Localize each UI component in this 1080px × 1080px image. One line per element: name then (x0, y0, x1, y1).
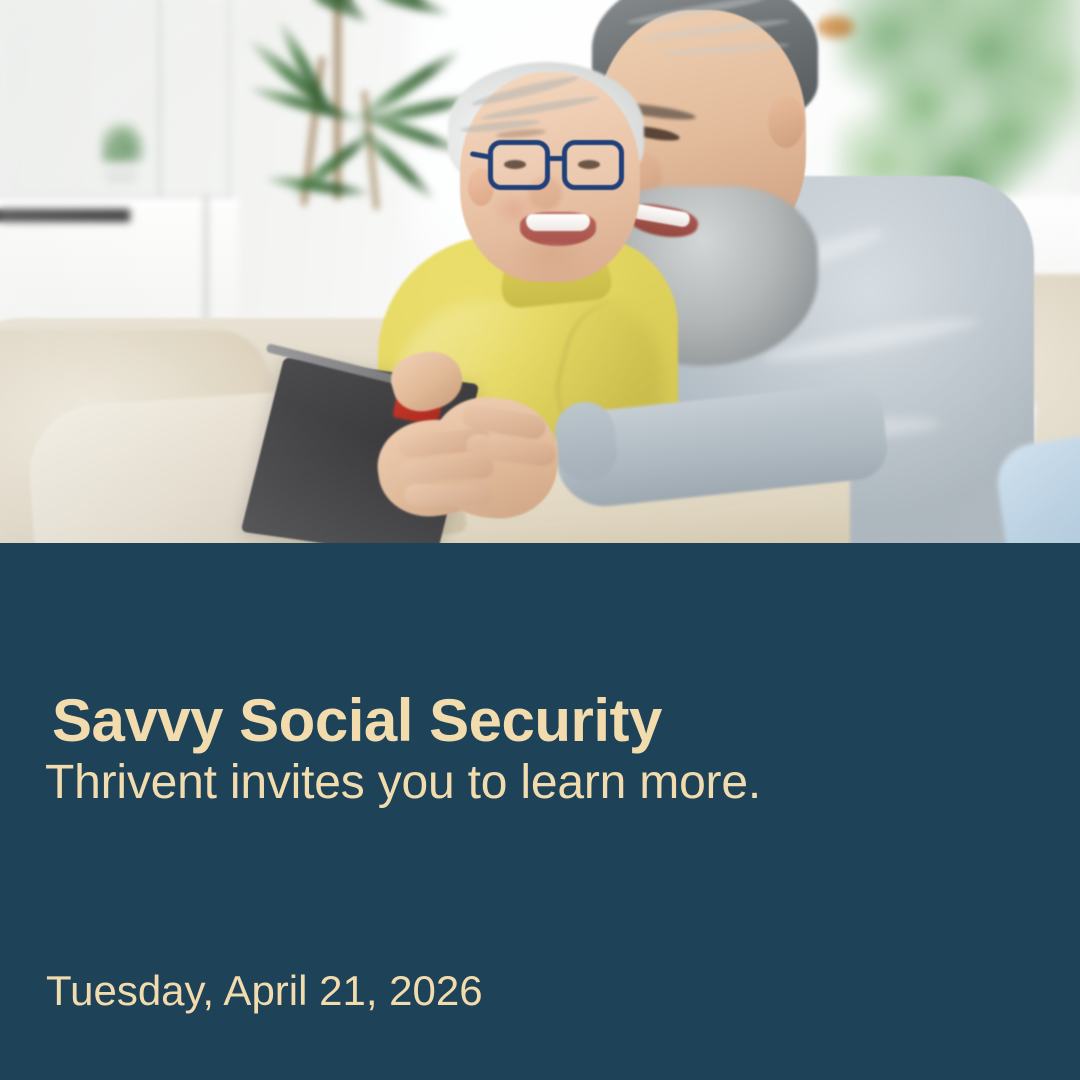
eyeglass-lens (562, 140, 624, 190)
man-ear (768, 96, 804, 148)
radiator-vent (0, 209, 130, 222)
eyeglass-bridge (548, 156, 566, 161)
orange-sprig (818, 16, 854, 38)
woman-teeth (526, 214, 590, 231)
hero-photo (0, 0, 1080, 543)
woman-chin (512, 244, 592, 284)
info-panel: Savvy Social Security Thrivent invites y… (0, 543, 1080, 1080)
eyeglasses-icon (488, 140, 636, 192)
promo-canvas: Savvy Social Security Thrivent invites y… (0, 0, 1080, 1080)
wall-seam (158, 0, 161, 215)
event-date: Tuesday, April 21, 2026 (46, 970, 483, 1012)
finger (404, 484, 492, 506)
event-subtitle: Thrivent invites you to learn more. (45, 759, 761, 807)
eyeglass-lens (488, 140, 550, 190)
small-plant-leaves (101, 122, 145, 162)
console-top (0, 198, 238, 207)
dracaena-plant (222, 0, 472, 250)
event-title: Savvy Social Security (52, 691, 662, 751)
